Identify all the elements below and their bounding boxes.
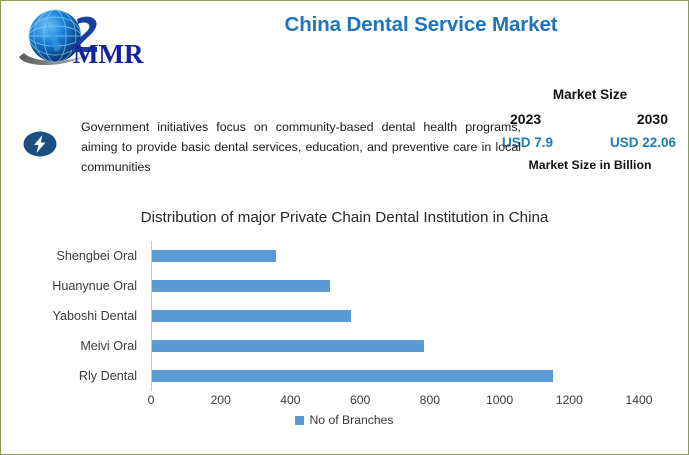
logo-text: MMR [73, 39, 144, 69]
chart-category-label: Huanynue Oral [1, 271, 143, 301]
chart-bar[interactable] [152, 340, 424, 352]
bar-chart: Distribution of major Private Chain Dent… [1, 201, 688, 451]
lightning-bolt-icon [23, 131, 57, 157]
chart-x-tick: 1200 [556, 393, 583, 407]
infographic-page: MMR China Dental Service Market Market S… [0, 0, 689, 455]
chart-bar-row [152, 361, 640, 391]
chart-x-tick: 1000 [486, 393, 513, 407]
chart-category-label: Meivi Oral [1, 331, 143, 361]
chart-plot-area [151, 241, 640, 391]
chart-bar-row [152, 271, 640, 301]
market-size-footnote: Market Size in Billion [502, 158, 678, 172]
legend-swatch-no-of-branches [295, 416, 304, 425]
chart-bar[interactable] [152, 310, 351, 322]
chart-category-label: Rly Dental [1, 361, 143, 391]
chart-bar[interactable] [152, 250, 276, 262]
chart-bar-row [152, 241, 640, 271]
market-size-years: 2023 2030 [502, 111, 678, 127]
chart-title: Distribution of major Private Chain Dent… [1, 209, 688, 226]
description-block: Government initiatives focus on communit… [23, 117, 523, 177]
market-size-value-2030: USD 22.06 [610, 135, 676, 150]
chart-x-tick: 400 [280, 393, 300, 407]
chart-x-tick: 200 [211, 393, 231, 407]
chart-x-axis: 0200400600800100012001400 [151, 391, 639, 411]
mmr-logo: MMR [15, 7, 155, 69]
chart-bar-row [152, 331, 640, 361]
page-title: China Dental Service Market [191, 13, 651, 37]
chart-category-labels: Shengbei OralHuanynue OralYaboshi Dental… [1, 241, 143, 391]
chart-legend: No of Branches [1, 413, 688, 427]
market-size-values: USD 7.9 USD 22.06 [502, 135, 678, 150]
header: MMR China Dental Service Market [1, 1, 688, 73]
chart-x-tick: 600 [350, 393, 370, 407]
chart-bar[interactable] [152, 370, 553, 382]
chart-x-tick: 0 [148, 393, 155, 407]
chart-bar-row [152, 301, 640, 331]
market-size-heading: Market Size [502, 87, 678, 102]
legend-label-no-of-branches: No of Branches [309, 413, 393, 427]
chart-x-tick: 800 [420, 393, 440, 407]
market-size-year-2030: 2030 [637, 111, 668, 127]
chart-category-label: Yaboshi Dental [1, 301, 143, 331]
description-text: Government initiatives focus on communit… [81, 117, 521, 177]
chart-bar[interactable] [152, 280, 330, 292]
chart-category-label: Shengbei Oral [1, 241, 143, 271]
chart-x-tick: 1400 [625, 393, 652, 407]
market-size-panel: Market Size 2023 2030 USD 7.9 USD 22.06 … [502, 87, 678, 172]
